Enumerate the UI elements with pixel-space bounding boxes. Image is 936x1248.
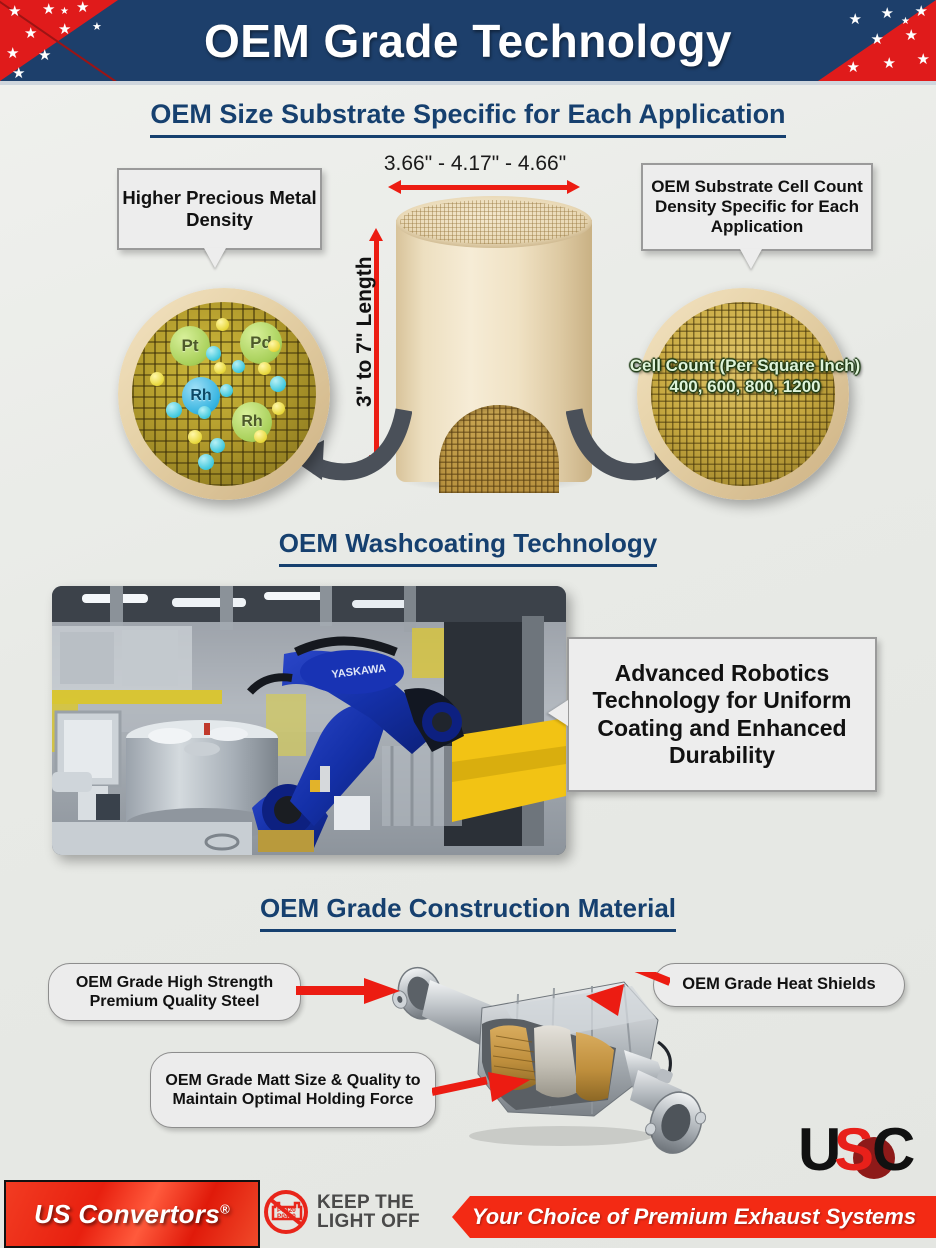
svg-text:C: C	[872, 1118, 915, 1180]
page-title: OEM Grade Technology	[0, 0, 936, 81]
callout-heat-shields: OEM Grade Heat Shields	[653, 963, 905, 1007]
infographic-page: ★ ★ ★ ★ ★ ★ ★ ★ ★ ★ ★ ★ ★ ★ ★ ★ ★ ★ ★ OE…	[0, 0, 936, 1248]
keep-line-2: LIGHT OFF	[317, 1212, 420, 1231]
svg-text:P0430: P0430	[277, 1213, 296, 1220]
header-divider	[0, 81, 936, 85]
check-engine-prohibited-icon: P0420 P0430	[262, 1189, 310, 1235]
section-title-washcoating: OEM Washcoating Technology	[0, 528, 936, 567]
header-bar: ★ ★ ★ ★ ★ ★ ★ ★ ★ ★ ★ ★ ★ ★ ★ ★ ★ ★ ★ OE…	[0, 0, 936, 81]
cell-count-overlay: Cell Count (Per Square Inch) 400, 600, 8…	[600, 355, 890, 398]
keep-light-off-text: KEEP THE LIGHT OFF	[317, 1193, 420, 1231]
robotics-factory-photo: YASKAWA	[52, 586, 566, 855]
substrate-honeycomb-top	[396, 196, 592, 248]
section-title-washcoating-text: OEM Washcoating Technology	[279, 528, 657, 567]
us-convertors-text: US Convertors®	[34, 1199, 230, 1230]
keep-line-1: KEEP THE	[317, 1193, 420, 1212]
callout-precious-metal-density: Higher Precious Metal Density	[117, 168, 322, 250]
us-convertors-logo: US Convertors®	[4, 1180, 260, 1248]
callout-premium-steel: OEM Grade High Strength Premium Quality …	[48, 963, 301, 1021]
substrate-cylinder	[396, 196, 592, 491]
cell-count-values: 400, 600, 800, 1200	[600, 376, 890, 397]
section-title-construction: OEM Grade Construction Material	[0, 893, 936, 932]
callout-cellcount-tail	[740, 249, 762, 269]
usc-logo: U S C	[798, 1118, 928, 1180]
callout-advanced-robotics: Advanced Robotics Technology for Uniform…	[567, 637, 877, 792]
arrow-to-heat-shields	[584, 972, 670, 1020]
section-title-substrate: OEM Size Substrate Specific for Each App…	[0, 99, 936, 138]
magnifier-precious-metals: Pt Pd Rh Rh	[118, 288, 330, 500]
callout-substrate-cell-count: OEM Substrate Cell Count Density Specifi…	[641, 163, 873, 251]
keep-light-off-badge: P0420 P0430 KEEP THE LIGHT OFF	[262, 1184, 437, 1240]
section-title-construction-text: OEM Grade Construction Material	[260, 893, 676, 932]
arrow-to-steel	[296, 975, 402, 1009]
callout-precious-tail	[204, 248, 226, 268]
svg-text:S: S	[834, 1118, 874, 1180]
callout-robotics-tail	[548, 700, 568, 726]
diameter-arrow	[388, 182, 580, 192]
section-title-substrate-text: OEM Size Substrate Specific for Each App…	[150, 99, 785, 138]
length-label: 3" to 7" Length	[353, 277, 377, 407]
callout-matt-size: OEM Grade Matt Size & Quality to Maintai…	[150, 1052, 436, 1128]
substrate-cutaway	[439, 405, 559, 493]
cell-count-title: Cell Count (Per Square Inch)	[600, 355, 890, 376]
diameter-label: 3.66" - 4.17" - 4.66"	[330, 152, 620, 176]
bubble-pt: Pt	[170, 326, 210, 366]
tagline-banner: Your Choice of Premium Exhaust Systems	[452, 1196, 936, 1238]
tagline-text: Your Choice of Premium Exhaust Systems	[472, 1204, 916, 1230]
arrow-to-matt	[432, 1066, 536, 1102]
